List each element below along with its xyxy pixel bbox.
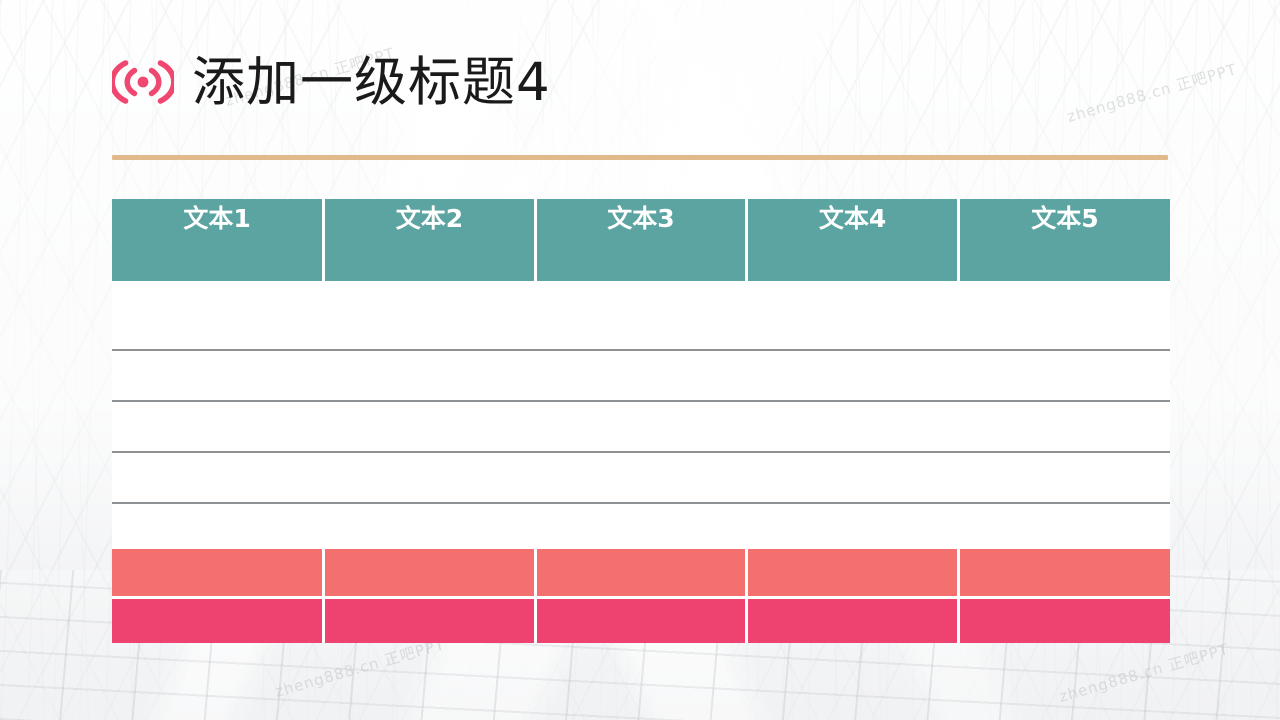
content-table: 文本1 文本2 文本3 文本4 文本5: [112, 199, 1170, 643]
table-cell[interactable]: [112, 281, 324, 350]
table-cell[interactable]: [958, 350, 1170, 401]
table-cell[interactable]: [958, 549, 1170, 598]
table-cell[interactable]: [535, 503, 747, 549]
table-cell[interactable]: [324, 350, 536, 401]
table-cell[interactable]: [535, 281, 747, 350]
table-header-cell: 文本2: [324, 199, 536, 281]
table-cell[interactable]: [112, 503, 324, 549]
table-cell[interactable]: [112, 452, 324, 503]
table-cell[interactable]: [112, 598, 324, 644]
table-crimson-row[interactable]: [112, 598, 1170, 644]
table-header-cell: 文本5: [958, 199, 1170, 281]
table-cell[interactable]: [958, 401, 1170, 452]
table-cell[interactable]: [747, 350, 959, 401]
table-cell[interactable]: [747, 503, 959, 549]
table-cell[interactable]: [324, 401, 536, 452]
table-cell[interactable]: [958, 503, 1170, 549]
table-cell[interactable]: [535, 549, 747, 598]
table-cell[interactable]: [535, 452, 747, 503]
table-cell[interactable]: [747, 598, 959, 644]
table-cell[interactable]: [324, 598, 536, 644]
title-divider-rule: [112, 155, 1168, 160]
slide-title-row: 添加一级标题4: [112, 54, 551, 110]
table-coral-row[interactable]: [112, 549, 1170, 598]
broadcast-signal-icon: [112, 54, 174, 110]
table-cell[interactable]: [112, 350, 324, 401]
table-cell[interactable]: [535, 598, 747, 644]
table-header-cell: 文本4: [747, 199, 959, 281]
page-title: 添加一级标题4: [192, 56, 551, 109]
table-cell[interactable]: [112, 549, 324, 598]
table-cell[interactable]: [958, 598, 1170, 644]
table-cell[interactable]: [535, 350, 747, 401]
table-row[interactable]: [112, 281, 1170, 350]
slide-canvas: zheng888.cn 正吧PPT zheng888.cn 正吧PPT zhen…: [0, 0, 1280, 720]
table-header-cell: 文本3: [535, 199, 747, 281]
table-cell[interactable]: [324, 549, 536, 598]
table-cell[interactable]: [747, 401, 959, 452]
table-row[interactable]: [112, 350, 1170, 401]
table-row[interactable]: [112, 452, 1170, 503]
table-cell[interactable]: [324, 281, 536, 350]
table-header-cell: 文本1: [112, 199, 324, 281]
table-cell[interactable]: [747, 452, 959, 503]
table-cell[interactable]: [324, 503, 536, 549]
table-cell[interactable]: [535, 401, 747, 452]
table-cell[interactable]: [958, 281, 1170, 350]
table-header-row: 文本1 文本2 文本3 文本4 文本5: [112, 199, 1170, 281]
table-cell[interactable]: [324, 452, 536, 503]
table-cell[interactable]: [958, 452, 1170, 503]
table-cell[interactable]: [112, 401, 324, 452]
table-row[interactable]: [112, 401, 1170, 452]
table-cell[interactable]: [747, 549, 959, 598]
table-row[interactable]: [112, 503, 1170, 549]
table-cell[interactable]: [747, 281, 959, 350]
